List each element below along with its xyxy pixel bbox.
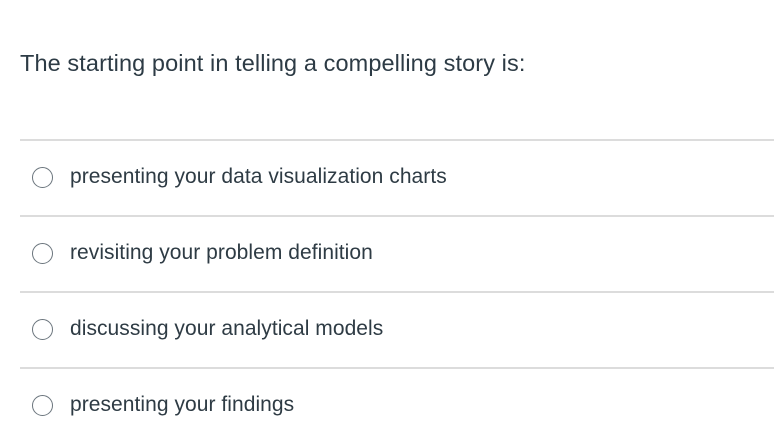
radio-unchecked-icon[interactable] — [32, 167, 53, 188]
answer-option-1[interactable]: presenting your data visualization chart… — [0, 139, 774, 215]
answer-option-label: revisiting your problem definition — [70, 240, 373, 266]
quiz-question-panel: The starting point in telling a compelli… — [0, 0, 774, 444]
answer-options-list: presenting your data visualization chart… — [0, 139, 774, 443]
radio-unchecked-icon[interactable] — [32, 395, 53, 416]
answer-option-3[interactable]: discussing your analytical models — [0, 291, 774, 367]
radio-unchecked-icon[interactable] — [32, 319, 53, 340]
answer-option-label: presenting your findings — [70, 392, 294, 418]
answer-option-label: presenting your data visualization chart… — [70, 164, 447, 190]
answer-option-label: discussing your analytical models — [70, 316, 383, 342]
answer-option-4[interactable]: presenting your findings — [0, 367, 774, 443]
answer-option-2[interactable]: revisiting your problem definition — [0, 215, 774, 291]
question-stem: The starting point in telling a compelli… — [20, 46, 754, 80]
radio-unchecked-icon[interactable] — [32, 243, 53, 264]
